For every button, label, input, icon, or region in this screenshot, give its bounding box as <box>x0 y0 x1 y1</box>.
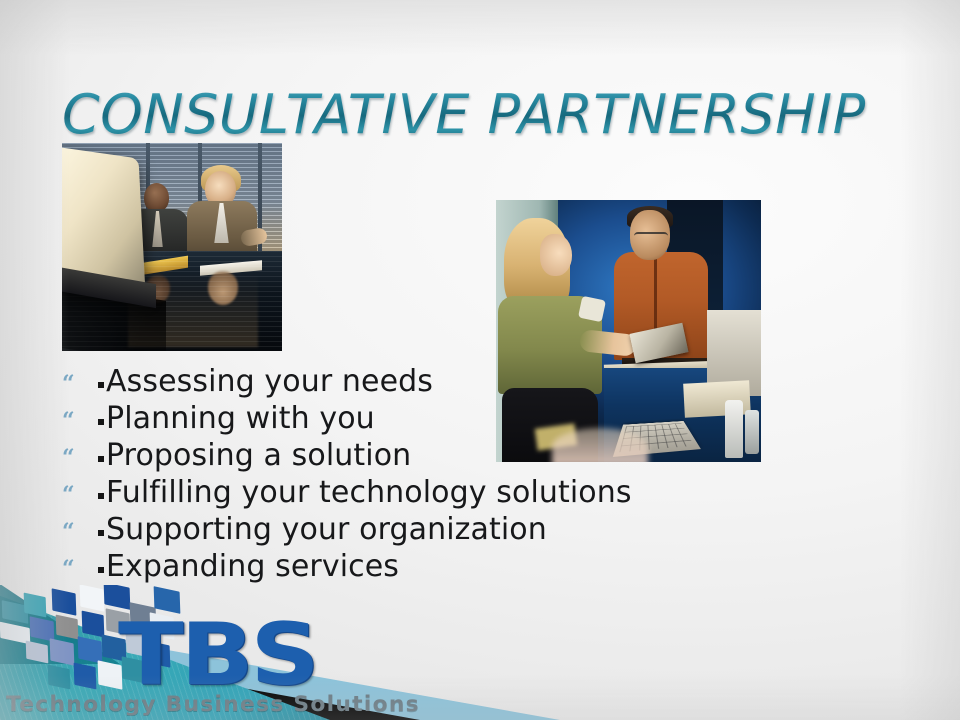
quote-bullet-icon: “ <box>62 521 98 543</box>
square-bullet-icon <box>98 493 104 499</box>
list-item: “ Supporting your organization <box>62 513 762 550</box>
seated-man-head <box>144 183 169 212</box>
list-item-label: Expanding services <box>106 550 399 584</box>
list-item-label: Planning with you <box>106 402 375 436</box>
list-item: “ Proposing a solution <box>62 439 762 476</box>
bullet-list: “ Assessing your needs “ Planning with y… <box>62 365 762 587</box>
square-bullet-icon <box>98 567 104 573</box>
square-bullet-icon <box>98 382 104 388</box>
square-bullet-icon <box>98 419 104 425</box>
quote-bullet-icon: “ <box>62 558 98 580</box>
list-item-label: Fulfilling your technology solutions <box>106 476 632 510</box>
square-bullet-icon <box>98 530 104 536</box>
list-item: “ Expanding services <box>62 550 762 587</box>
tbs-tagline: Technology Business Solutions <box>6 692 420 716</box>
mosaic-square <box>52 588 77 615</box>
customer-woman-face <box>540 234 572 276</box>
list-item-label: Assessing your needs <box>106 365 433 399</box>
customer-woman-collar <box>578 296 606 323</box>
list-item-label: Proposing a solution <box>106 439 411 473</box>
list-item-label: Supporting your organization <box>106 513 547 547</box>
tbs-wordmark: TBS <box>118 612 316 698</box>
presentation-slide: CONSULTATIVE PARTNERSHIP <box>0 0 960 720</box>
list-item: “ Fulfilling your technology solutions <box>62 476 762 513</box>
quote-bullet-icon: “ <box>62 447 98 469</box>
page-title: CONSULTATIVE PARTNERSHIP <box>62 83 922 146</box>
list-item: “ Assessing your needs <box>62 365 762 402</box>
mosaic-square <box>82 611 105 638</box>
mosaic-square <box>80 585 105 612</box>
quote-bullet-icon: “ <box>62 484 98 506</box>
eyeglasses-icon <box>634 232 668 242</box>
quote-bullet-icon: “ <box>62 410 98 432</box>
list-item: “ Planning with you <box>62 402 762 439</box>
square-bullet-icon <box>98 456 104 462</box>
boardroom-meeting-photo <box>62 143 282 351</box>
mosaic-square <box>74 663 97 690</box>
quote-bullet-icon: “ <box>62 373 98 395</box>
